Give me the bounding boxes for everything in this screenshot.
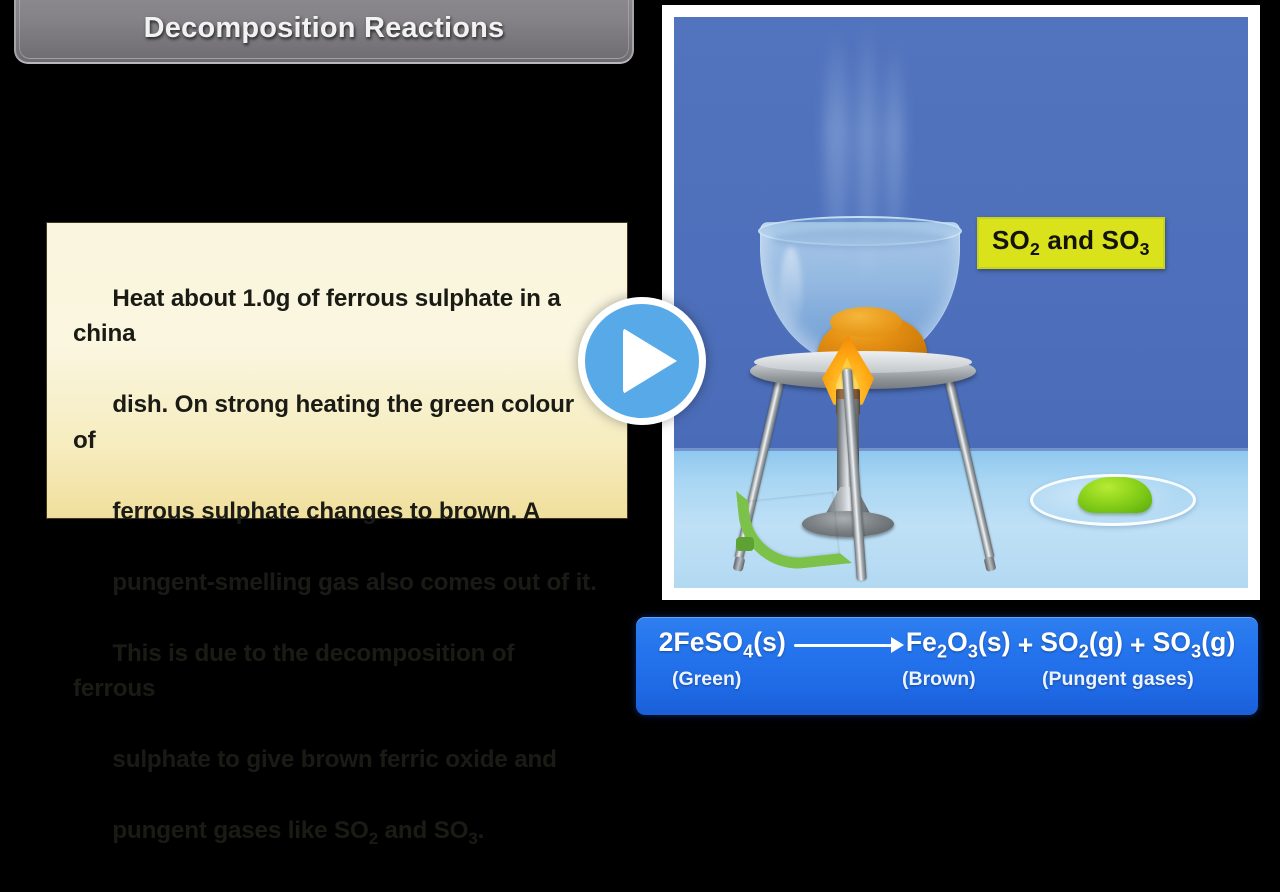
description-line-7-text-b: and SO <box>378 817 468 844</box>
gas-hose-tip <box>736 537 754 551</box>
description-line-6: sulphate to give brown ferric oxide and <box>112 746 556 773</box>
ferric-oxide-residue-top <box>830 307 902 337</box>
description-text: Heat about 1.0g of ferrous sulphate in a… <box>73 245 601 892</box>
equation-product2-sub: 2 <box>1079 642 1089 662</box>
description-line-2: dish. On strong heating the green colour… <box>73 391 581 454</box>
equation-product1-sub-1: 2 <box>937 642 947 662</box>
china-dish-highlight <box>780 247 802 335</box>
play-icon <box>623 328 677 394</box>
equation-annotations: (Green) (Brown) (Pungent gases) <box>636 664 1258 698</box>
equation-product2-formula: SO <box>1040 627 1079 657</box>
experiment-scene: SO2 and SO3 <box>674 17 1248 588</box>
description-line-1: Heat about 1.0g of ferrous sulphate in a… <box>73 285 567 348</box>
illustration-frame: SO2 and SO3 <box>662 5 1260 600</box>
equation-label-green: (Green) <box>672 668 741 691</box>
equation-reactant-formula: 2FeSO <box>659 627 743 657</box>
equation-product3-state: (g) <box>1201 627 1235 657</box>
description-line-7-text-c: . <box>478 817 485 844</box>
callout-text-b: and SO <box>1040 225 1140 255</box>
page-title: Decomposition Reactions <box>144 12 505 45</box>
chemical-equation-bar: 2FeSO4(s) Fe2O3(s) + SO2(g) + SO3(g) (Gr… <box>636 617 1258 715</box>
equation-product1-formula: Fe <box>906 627 937 657</box>
equation-product2-state: (g) <box>1089 627 1123 657</box>
reaction-arrow-icon <box>794 635 904 655</box>
video-frame: Decomposition Reactions Heat about 1.0g … <box>0 0 1280 720</box>
description-line-4: pungent-smelling gas also comes out of i… <box>112 569 596 596</box>
equation-label-pungent: (Pungent gases) <box>1042 668 1194 691</box>
description-line-5: This is due to the decomposition of ferr… <box>73 640 521 703</box>
description-line-7-text-a: pungent gases like SO <box>112 817 368 844</box>
description-line-7: pungent gases like SO2 and SO3. <box>112 817 484 844</box>
description-panel: Heat about 1.0g of ferrous sulphate in a… <box>47 223 627 518</box>
equation-reactant-state: (s) <box>753 627 786 657</box>
callout-sub-b: 3 <box>1140 239 1150 259</box>
equation-product-2: SO2(g) <box>1040 627 1123 662</box>
china-dish-inner-shadow <box>772 229 948 249</box>
equation-label-brown: (Brown) <box>902 668 976 691</box>
description-line-7-sub-1: 2 <box>369 829 378 848</box>
ferrous-sulphate-sample <box>1078 477 1152 513</box>
equation-product3-sub: 3 <box>1191 642 1201 662</box>
equation-plus-1: + <box>1018 630 1034 661</box>
description-line-7-sub-2: 3 <box>468 829 477 848</box>
play-button[interactable] <box>578 297 706 425</box>
gas-callout-label: SO2 and SO3 <box>977 217 1165 269</box>
equation-plus-2: + <box>1130 630 1146 661</box>
equation-product1-sub-2: 3 <box>968 642 978 662</box>
description-line-3: ferrous sulphate changes to brown. A <box>112 498 540 525</box>
equation-product-3: SO3(g) <box>1153 627 1236 662</box>
equation-product3-formula: SO <box>1153 627 1192 657</box>
equation-product-1: Fe2O3(s) <box>906 627 1011 662</box>
equation-product1-mid: O <box>947 627 968 657</box>
equation-reactant: 2FeSO4(s) <box>659 627 786 662</box>
callout-text-a: SO <box>992 225 1030 255</box>
callout-sub-a: 2 <box>1030 239 1040 259</box>
equation-product1-state: (s) <box>978 627 1011 657</box>
equation-reactant-sub: 4 <box>743 642 753 662</box>
chemical-equation: 2FeSO4(s) Fe2O3(s) + SO2(g) + SO3(g) <box>636 626 1258 664</box>
title-bar: Decomposition Reactions <box>14 0 634 64</box>
